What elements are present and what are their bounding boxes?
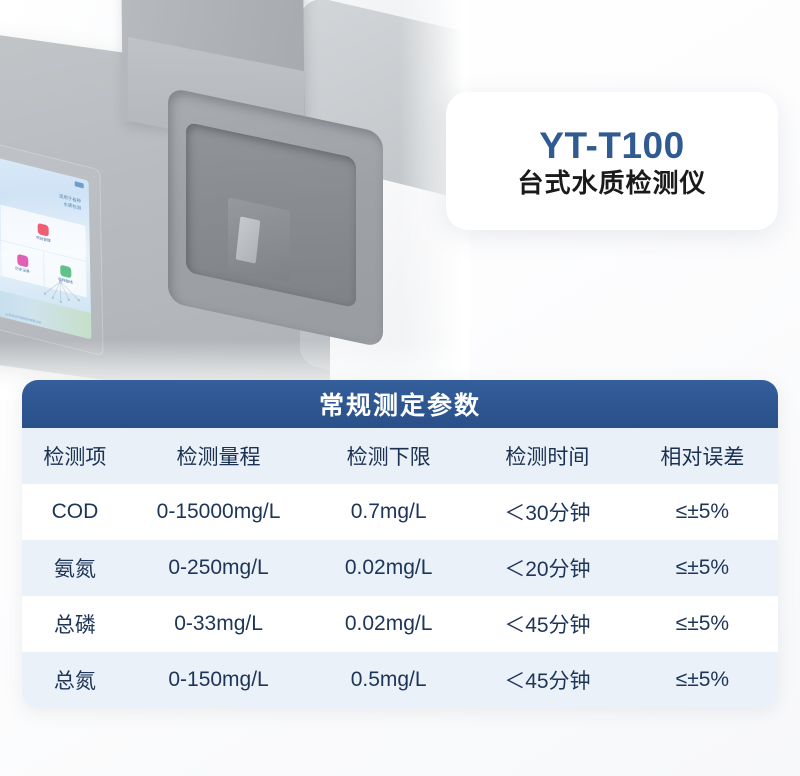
cell-time: ＜30分钟 (468, 484, 627, 540)
table-row: COD 0-15000mg/L 0.7mg/L ＜30分钟 ≤±5% (22, 484, 778, 540)
cell-item: 氨氮 (22, 540, 128, 596)
cell-time: ＜45分钟 (468, 652, 627, 708)
cell-time: ＜20分钟 (468, 540, 627, 596)
screen-tile-label: 历史记录 (15, 266, 29, 275)
cell-limit: 0.02mg/L (309, 540, 468, 596)
project-management-icon (38, 222, 49, 236)
cell-range: 0-33mg/L (128, 596, 309, 652)
cell-limit: 0.02mg/L (309, 596, 468, 652)
battery-icon (75, 181, 84, 188)
cell-error: ≤±5% (627, 652, 778, 708)
product-model: YT-T100 (539, 127, 684, 164)
table-row: 总磷 0-33mg/L 0.02mg/L ＜45分钟 ≤±5% (22, 596, 778, 652)
cell-error: ≤±5% (627, 540, 778, 596)
column-header-limit: 检测下限 (309, 428, 468, 484)
spec-table-body: COD 0-15000mg/L 0.7mg/L ＜30分钟 ≤±5% 氨氮 0-… (22, 484, 778, 708)
cell-limit: 0.7mg/L (309, 484, 468, 540)
product-title-card: YT-T100 台式水质检测仪 (446, 92, 778, 230)
cell-range: 0-250mg/L (128, 540, 309, 596)
column-header-range: 检测量程 (128, 428, 309, 484)
table-row: 氨氮 0-250mg/L 0.02mg/L ＜20分钟 ≤±5% (22, 540, 778, 596)
spec-table-card: 常规测定参数 检测项 检测量程 检测下限 检测时间 相对误差 COD 0-150… (22, 380, 778, 708)
column-header-time: 检测时间 (468, 428, 627, 484)
cell-error: ≤±5% (627, 596, 778, 652)
cell-range: 0-15000mg/L (128, 484, 309, 540)
cell-error: ≤±5% (627, 484, 778, 540)
spec-table-title: 常规测定参数 (22, 380, 778, 428)
screen-headline: 适用于各种 水质检测 (59, 193, 81, 212)
product-spec-page: 2023-12-05 15:28 适用于各种 水质检测 项目管理 仪器设置 (0, 0, 800, 776)
cell-item: COD (22, 484, 128, 540)
cell-time: ＜45分钟 (468, 596, 627, 652)
cell-range: 0-150mg/L (128, 652, 309, 708)
spec-table: 检测项 检测量程 检测下限 检测时间 相对误差 COD 0-15000mg/L … (22, 428, 778, 708)
cell-item: 总磷 (22, 596, 128, 652)
cell-limit: 0.5mg/L (309, 652, 468, 708)
history-records-icon (17, 253, 28, 267)
product-name: 台式水质检测仪 (517, 170, 706, 196)
column-header-item: 检测项 (22, 428, 128, 484)
spec-table-header-row: 检测项 检测量程 检测下限 检测时间 相对误差 (22, 428, 778, 484)
device-photo: 2023-12-05 15:28 适用于各种 水质检测 项目管理 仪器设置 (0, 0, 470, 400)
table-row: 总氮 0-150mg/L 0.5mg/L ＜45分钟 ≤±5% (22, 652, 778, 708)
screen-tile-label: 项目管理 (36, 235, 50, 244)
spec-table-head: 检测项 检测量程 检测下限 检测时间 相对误差 (22, 428, 778, 484)
cell-item: 总氮 (22, 652, 128, 708)
column-header-error: 相对误差 (627, 428, 778, 484)
